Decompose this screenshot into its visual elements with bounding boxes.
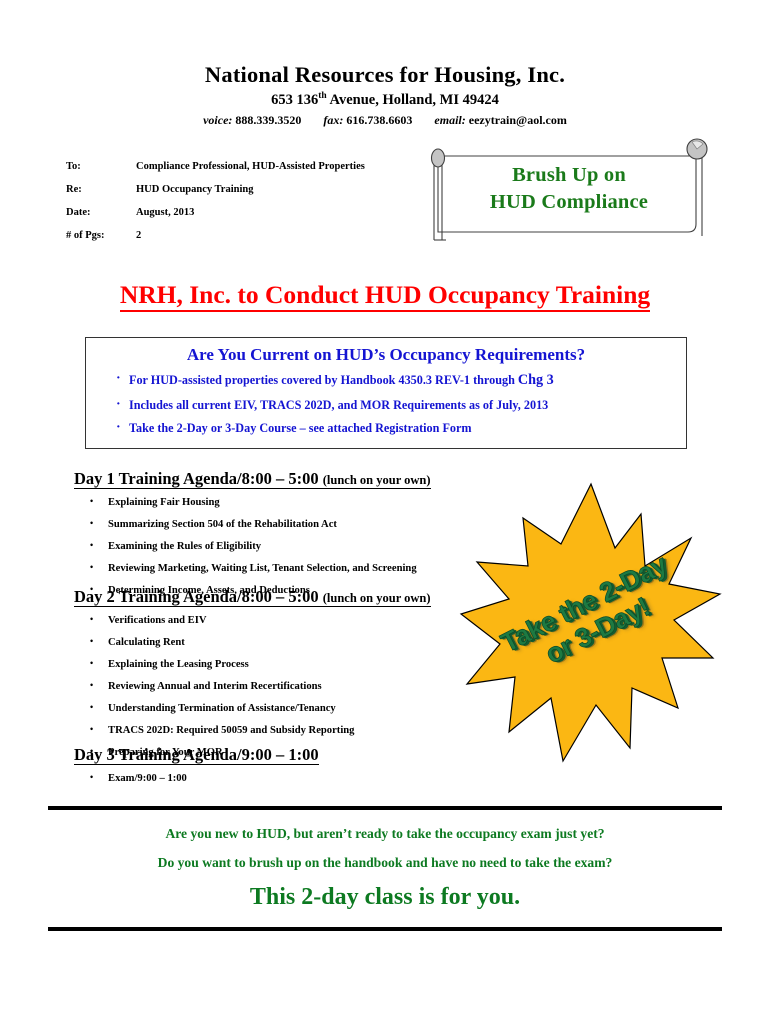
memo-row: To: Compliance Professional, HUD-Assiste… bbox=[66, 162, 406, 173]
scroll-banner: Brush Up on HUD Compliance bbox=[424, 136, 714, 248]
memo-label-re: Re: bbox=[66, 185, 136, 196]
agenda-item: Summarizing Section 504 of the Rehabilit… bbox=[74, 520, 494, 531]
agenda-section-day-3: Day 3 Training Agenda/9:00 – 1:00 Exam/9… bbox=[74, 746, 494, 796]
rule-bottom bbox=[48, 927, 722, 931]
agenda-item: Reviewing Marketing, Waiting List, Tenan… bbox=[74, 564, 494, 575]
agenda-list-day-3: Exam/9:00 – 1:00 bbox=[74, 774, 494, 785]
starburst-callout: Take the 2-Day or 3-Day! bbox=[455, 462, 727, 772]
memo-header-block: To: Compliance Professional, HUD-Assiste… bbox=[66, 162, 406, 254]
highlight-bullet-text: Take the 2-Day or 3-Day Course – see att… bbox=[129, 421, 472, 435]
organization-address: 653 136th Avenue, Holland, MI 49424 bbox=[0, 92, 770, 109]
memo-label-date: Date: bbox=[66, 208, 136, 219]
bottom-question-1: Are you new to HUD, but aren’t ready to … bbox=[48, 827, 722, 841]
agenda-list-day-1: Explaining Fair Housing Summarizing Sect… bbox=[74, 498, 494, 596]
agenda-heading-day-1: Day 1 Training Agenda/8:00 – 5:00 (lunch… bbox=[74, 470, 431, 489]
agenda-item: Examining the Rules of Eligibility bbox=[74, 542, 494, 553]
agenda-heading-sub: (lunch on your own) bbox=[323, 473, 431, 487]
agenda-heading-day-3: Day 3 Training Agenda/9:00 – 1:00 bbox=[74, 746, 319, 765]
agenda-list-day-2: Verifications and EIV Calculating Rent E… bbox=[74, 616, 494, 758]
agenda-item: Explaining Fair Housing bbox=[74, 498, 494, 509]
highlight-box: Are You Current on HUD’s Occupancy Requi… bbox=[85, 337, 687, 449]
memo-label-to: To: bbox=[66, 162, 136, 173]
voice-number: 888.339.3520 bbox=[235, 113, 301, 127]
agenda-item: Exam/9:00 – 1:00 bbox=[74, 774, 494, 785]
scroll-banner-text: Brush Up on HUD Compliance bbox=[424, 162, 714, 217]
highlight-bullet: Take the 2-Day or 3-Day Course – see att… bbox=[116, 422, 686, 434]
memo-label-pages: # of Pgs: bbox=[66, 231, 136, 242]
agenda-item: Understanding Termination of Assistance/… bbox=[74, 704, 494, 715]
agenda-item: Reviewing Annual and Interim Recertifica… bbox=[74, 682, 494, 693]
highlight-bullet: For HUD-assisted properties covered by H… bbox=[116, 373, 686, 387]
bottom-callout-block: Are you new to HUD, but aren’t ready to … bbox=[48, 806, 722, 931]
organization-contact-line: voice: 888.339.3520fax: 616.738.6603emai… bbox=[0, 113, 770, 127]
agenda-heading-main: Day 3 Training Agenda/9:00 – 1:00 bbox=[74, 745, 319, 764]
memo-row: Date: August, 2013 bbox=[66, 208, 406, 219]
scroll-banner-line-2: HUD Compliance bbox=[424, 189, 714, 216]
main-headline: NRH, Inc. to Conduct HUD Occupancy Train… bbox=[0, 281, 770, 309]
organization-name: National Resources for Housing, Inc. bbox=[0, 62, 770, 88]
flyer-page: National Resources for Housing, Inc. 653… bbox=[0, 0, 770, 1024]
highlight-bullet-text: For HUD-assisted properties covered by H… bbox=[129, 373, 518, 387]
bottom-question-2: Do you want to brush up on the handbook … bbox=[48, 856, 722, 870]
highlight-box-bullet-list: For HUD-assisted properties covered by H… bbox=[116, 373, 686, 434]
memo-row: # of Pgs: 2 bbox=[66, 231, 406, 242]
address-ordinal-suffix: th bbox=[318, 91, 326, 101]
memo-row: Re: HUD Occupancy Training bbox=[66, 185, 406, 196]
rule-top bbox=[48, 806, 722, 810]
voice-label: voice: bbox=[203, 113, 232, 127]
highlight-bullet-emphasis: Chg 3 bbox=[518, 372, 554, 388]
agenda-item: TRACS 202D: Required 50059 and Subsidy R… bbox=[74, 726, 494, 737]
agenda-item: Explaining the Leasing Process bbox=[74, 660, 494, 671]
agenda-item: Verifications and EIV bbox=[74, 616, 494, 627]
email-label: email: bbox=[434, 113, 465, 127]
letterhead: National Resources for Housing, Inc. 653… bbox=[0, 62, 770, 128]
agenda-heading-main: Day 1 Training Agenda/8:00 – 5:00 bbox=[74, 469, 323, 488]
agenda-heading-main: Day 2 Training Agenda/8:00 – 5:00 bbox=[74, 587, 323, 606]
agenda-heading-day-2: Day 2 Training Agenda/8:00 – 5:00 (lunch… bbox=[74, 588, 431, 607]
highlight-bullet: Includes all current EIV, TRACS 202D, an… bbox=[116, 399, 686, 411]
scroll-banner-line-1: Brush Up on bbox=[424, 162, 714, 189]
memo-value-pages: 2 bbox=[136, 231, 406, 242]
memo-value-to: Compliance Professional, HUD-Assisted Pr… bbox=[136, 162, 406, 173]
bottom-callout-text: Are you new to HUD, but aren’t ready to … bbox=[48, 827, 722, 909]
agenda-heading-sub: (lunch on your own) bbox=[323, 591, 431, 605]
address-street-number: 653 136 bbox=[271, 92, 318, 108]
main-headline-text: NRH, Inc. to Conduct HUD Occupancy Train… bbox=[120, 280, 650, 312]
highlight-bullet-text: Includes all current EIV, TRACS 202D, an… bbox=[129, 398, 548, 412]
fax-number: 616.738.6603 bbox=[346, 113, 412, 127]
fax-label: fax: bbox=[323, 113, 343, 127]
memo-value-date: August, 2013 bbox=[136, 208, 406, 219]
bottom-call-to-action: This 2-day class is for you. bbox=[48, 885, 722, 909]
memo-value-re: HUD Occupancy Training bbox=[136, 185, 406, 196]
starburst-text: Take the 2-Day or 3-Day! bbox=[455, 462, 727, 772]
agenda-section-day-2: Day 2 Training Agenda/8:00 – 5:00 (lunch… bbox=[74, 588, 494, 770]
email-address[interactable]: eezytrain@aol.com bbox=[469, 113, 567, 127]
highlight-box-title: Are You Current on HUD’s Occupancy Requi… bbox=[86, 345, 686, 365]
address-remainder: Avenue, Holland, MI 49424 bbox=[327, 92, 499, 108]
agenda-item: Calculating Rent bbox=[74, 638, 494, 649]
